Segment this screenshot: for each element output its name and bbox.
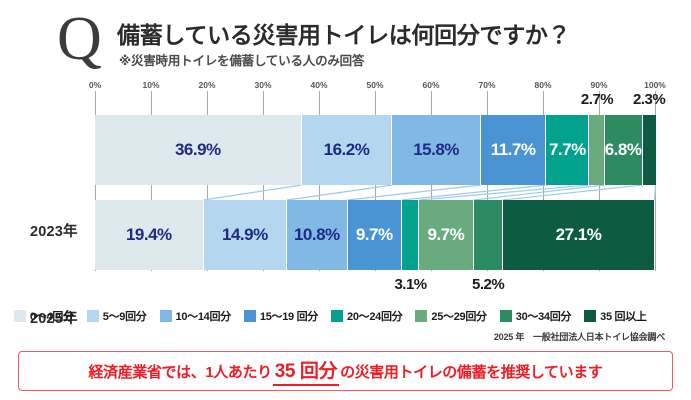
bar-segment-value: 11.7% [491, 140, 536, 160]
axis-tick-label: 80% [534, 80, 551, 90]
legend-color-swatch [331, 310, 343, 322]
bar-segment: 14.9% [204, 200, 287, 270]
bar-segment: 9.7% [348, 200, 402, 270]
legend-color-swatch [160, 310, 172, 322]
connector-line [287, 185, 392, 200]
bar-segment: 11.7% [481, 115, 547, 185]
bar-segment-callout: 3.1% [394, 276, 426, 293]
axis-tick-label: 60% [422, 80, 439, 90]
bar-segment: 7.7% [546, 115, 589, 185]
bar-segment: 19.4% [95, 200, 204, 270]
note-prefix: 経済産業省では、1人あたり [89, 361, 272, 382]
connector-line [419, 185, 589, 200]
legend-color-swatch [244, 310, 256, 322]
bar-segment-value: 9.7% [356, 225, 393, 245]
bar-segment: 2.7% [589, 115, 604, 185]
axis-tick-label: 10% [142, 80, 159, 90]
axis-tick-label: 0% [89, 80, 101, 90]
legend-item: 5〜9回分 [87, 308, 147, 324]
question-mark-letter: Q [57, 8, 102, 70]
page-title: 備蓄している災害用トイレは何回分ですか？ [117, 16, 570, 50]
legend-item-label: 0〜4回分 [30, 308, 74, 324]
row-label-2023: 2023年 [30, 220, 78, 241]
recommendation-note-text: 経済産業省では、1人あたり35 回分の災害用トイレの備蓄を推奨しています [89, 356, 603, 386]
legend-color-swatch [584, 310, 596, 322]
bar-segment-value: 6.8% [605, 140, 642, 160]
bar-segment-value: 7.7% [549, 140, 586, 160]
connector-line [204, 185, 302, 200]
axis-tick-label: 70% [478, 80, 495, 90]
connector-line [503, 185, 643, 200]
legend-item-label: 30〜34回分 [516, 308, 571, 324]
bar-segment: 6.8% [605, 115, 643, 185]
legend-item-label: 5〜9回分 [103, 308, 147, 324]
axis-tick-label: 30% [254, 80, 271, 90]
connector-line [348, 185, 481, 200]
bar-segment: 2.3% [643, 115, 656, 185]
axis-tick-label: 100% [644, 80, 666, 90]
recommendation-note-box: 経済産業省では、1人あたり35 回分の災害用トイレの備蓄を推奨しています [18, 351, 673, 391]
bar-segment-value: 9.7% [427, 225, 464, 245]
legend-item-label: 35 回以上 [600, 308, 647, 324]
bar-segment: 15.8% [392, 115, 480, 185]
infographic-root: Q 備蓄している災害用トイレは何回分ですか？ ※災害時用トイレを備蓄している人の… [0, 0, 691, 400]
connector-line [474, 185, 605, 200]
legend-item: 20〜24回分 [331, 308, 402, 324]
legend-item: 25〜29回分 [415, 308, 486, 324]
axis-tick-label: 50% [366, 80, 383, 90]
legend-item-label: 20〜24回分 [347, 308, 402, 324]
connector-line [402, 185, 546, 200]
legend-item-label: 25〜29回分 [431, 308, 486, 324]
legend-color-swatch [500, 310, 512, 322]
bar-segment: 10.8% [287, 200, 347, 270]
legend-item-label: 15〜19 回分 [260, 308, 318, 324]
legend-item: 10〜14回分 [160, 308, 231, 324]
legend-item: 35 回以上 [584, 308, 647, 324]
bar-segment-value: 15.8% [413, 140, 459, 160]
bar-segment-callout: 2.3% [633, 91, 665, 108]
bar-segment: 3.1% [402, 200, 419, 270]
bar-segment: 9.7% [419, 200, 473, 270]
page-subtitle: ※災害時用トイレを備蓄している人のみ回答 [119, 50, 364, 69]
legend-color-swatch [415, 310, 427, 322]
bar-segment-callout: 5.2% [472, 276, 504, 293]
chart-legend: 0〜4回分5〜9回分10〜14回分15〜19 回分20〜24回分25〜29回分3… [14, 308, 660, 324]
bar-segment: 36.9% [95, 115, 302, 185]
bar-row-2025: 19.4%14.9%10.8%9.7%3.1%9.7%5.2%27.1% [95, 200, 654, 270]
legend-color-swatch [14, 310, 26, 322]
axis-tick-label: 20% [198, 80, 215, 90]
legend-item: 15〜19 回分 [244, 308, 318, 324]
bar-segment: 5.2% [474, 200, 503, 270]
legend-item-label: 10〜14回分 [176, 308, 231, 324]
legend-item: 30〜34回分 [500, 308, 571, 324]
bar-segment: 16.2% [302, 115, 393, 185]
legend-item: 0〜4回分 [14, 308, 74, 324]
header: Q 備蓄している災害用トイレは何回分ですか？ ※災害時用トイレを備蓄している人の… [0, 0, 691, 80]
bar-segment-value: 27.1% [556, 225, 602, 245]
stacked-bar-chart: 0%10%20%30%40%50%60%70%80%90%100% 2023年 … [0, 80, 691, 300]
note-emphasis: 35 回分 [273, 356, 339, 386]
bar-segment-value: 19.4% [126, 225, 172, 245]
source-attribution: 2025 年 一般社団法人日本トイレ協会調べ [494, 330, 665, 343]
axis-tick-label: 40% [310, 80, 327, 90]
bar-segment-callout: 2.7% [581, 91, 613, 108]
bar-row-2023: 36.9%16.2%15.8%11.7%7.7%2.7%6.8%2.3% [95, 115, 656, 185]
note-suffix: の災害用トイレの備蓄を推奨しています [340, 361, 602, 382]
bar-segment-value: 16.2% [324, 140, 370, 160]
legend-color-swatch [87, 310, 99, 322]
bar-segment-value: 14.9% [222, 225, 268, 245]
bar-segment-value: 10.8% [294, 225, 340, 245]
bar-segment-value: 36.9% [175, 140, 221, 160]
axis-tick-label: 90% [590, 80, 607, 90]
bar-segment: 27.1% [503, 200, 655, 270]
